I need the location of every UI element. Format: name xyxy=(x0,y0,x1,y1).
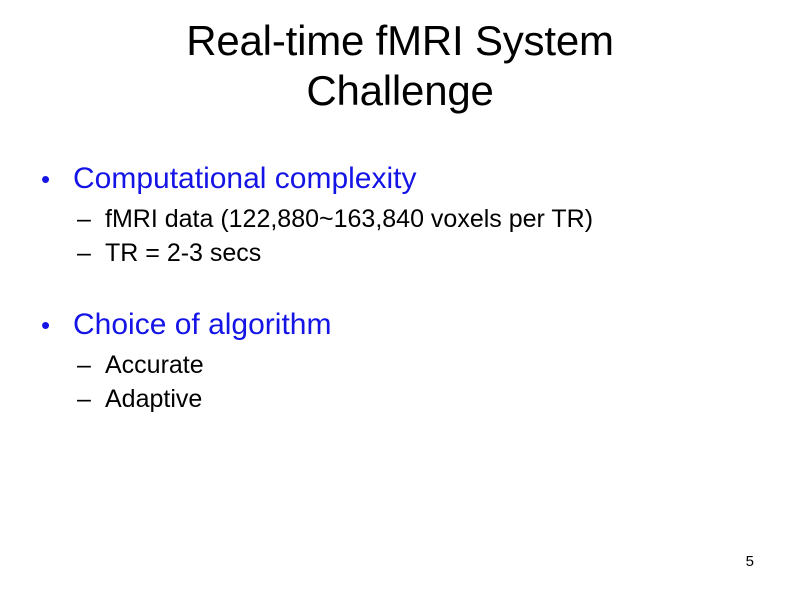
bullet-group: • Computational complexity – fMRI data (… xyxy=(36,160,766,270)
slide-body: • Computational complexity – fMRI data (… xyxy=(36,160,766,416)
bullet-dot-icon: • xyxy=(36,306,73,344)
group-spacer xyxy=(36,270,766,306)
presentation-slide: Real-time fMRI System Challenge • Comput… xyxy=(0,0,800,599)
bullet-level1-computational-complexity: • Computational complexity xyxy=(36,160,766,198)
bullet-level2-accurate: – Accurate xyxy=(36,348,766,382)
page-title: Real-time fMRI System Challenge xyxy=(60,16,740,116)
bullet-level1-choice-of-algorithm: • Choice of algorithm xyxy=(36,306,766,344)
bullet-level1-label: Computational complexity xyxy=(73,160,766,198)
bullet-dash-icon: – xyxy=(36,202,105,236)
bullet-dash-icon: – xyxy=(36,382,105,416)
page-number: 5 xyxy=(746,554,754,569)
bullet-level2-label: Accurate xyxy=(105,348,766,382)
bullet-level2-adaptive: – Adaptive xyxy=(36,382,766,416)
bullet-level2-label: fMRI data (122,880~163,840 voxels per TR… xyxy=(105,202,766,236)
bullet-level2-tr: – TR = 2-3 secs xyxy=(36,236,766,270)
bullet-level2-label: Adaptive xyxy=(105,382,766,416)
bullet-group: • Choice of algorithm – Accurate – Adapt… xyxy=(36,306,766,416)
bullet-level2-fmri-data: – fMRI data (122,880~163,840 voxels per … xyxy=(36,202,766,236)
bullet-dot-icon: • xyxy=(36,160,73,198)
bullet-dash-icon: – xyxy=(36,236,105,270)
bullet-level1-label: Choice of algorithm xyxy=(73,306,766,344)
bullet-dash-icon: – xyxy=(36,348,105,382)
bullet-level2-label: TR = 2-3 secs xyxy=(105,236,766,270)
